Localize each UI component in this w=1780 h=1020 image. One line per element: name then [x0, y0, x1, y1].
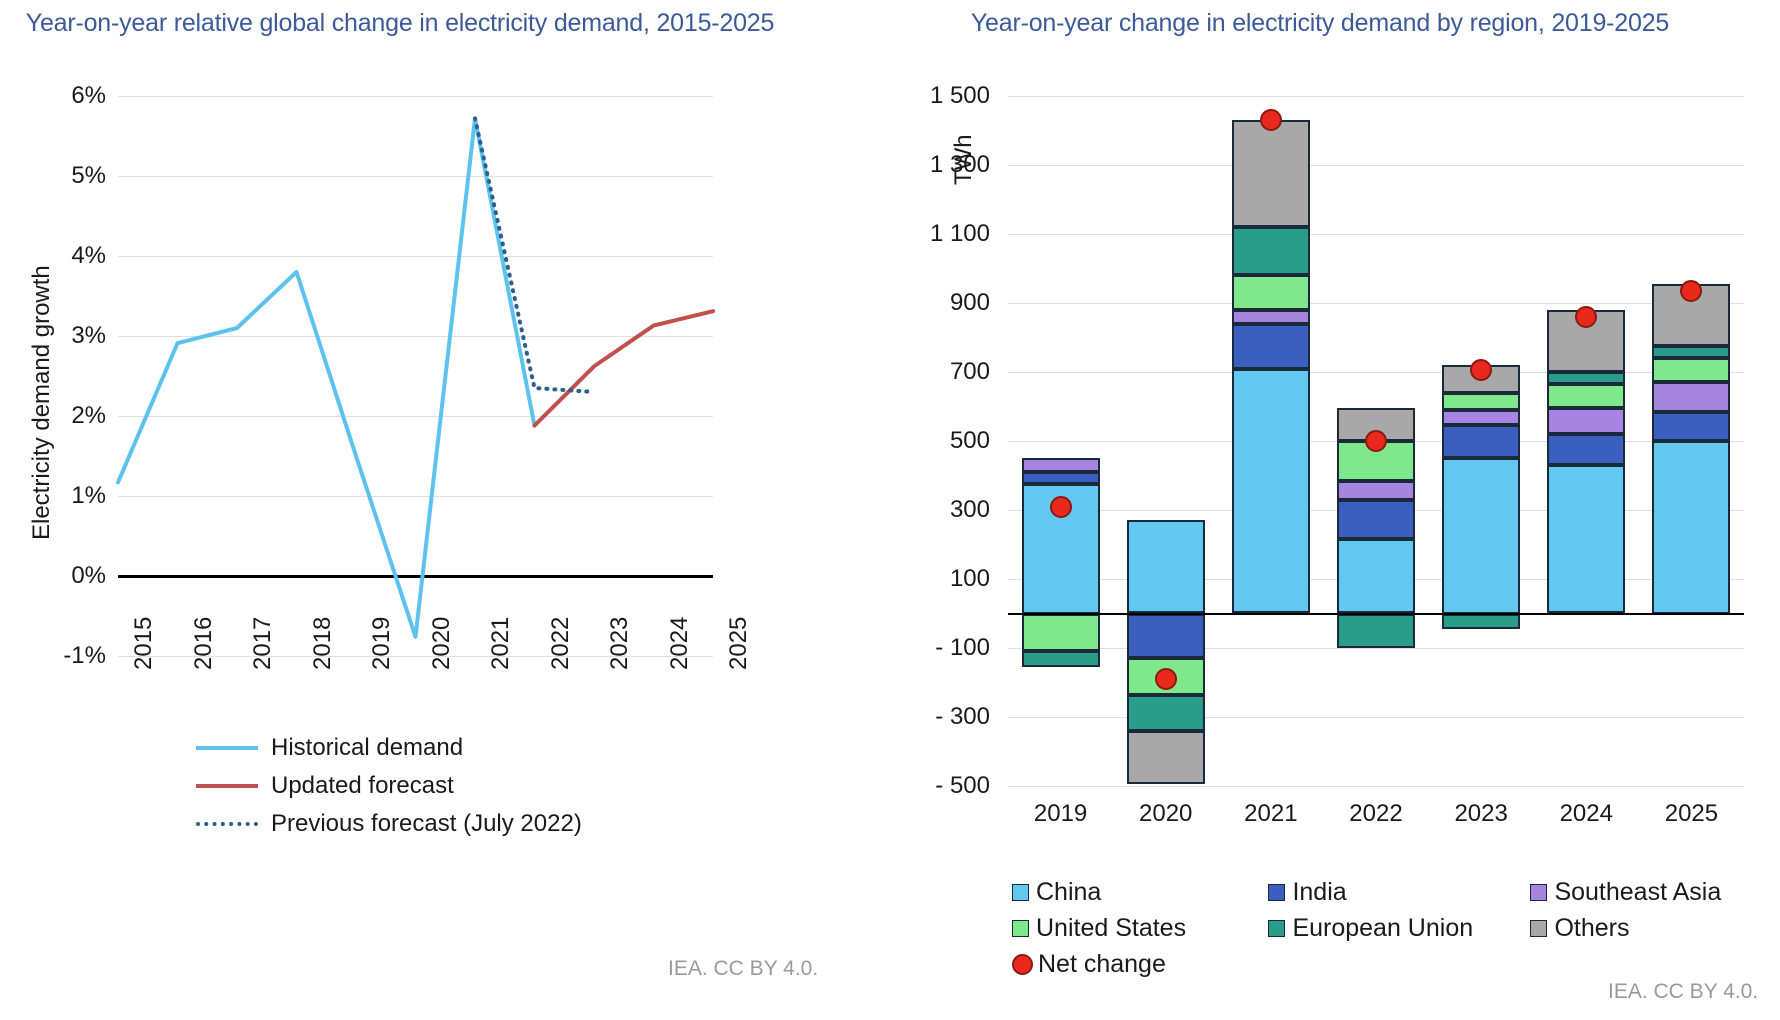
left-credit: IEA. CC BY 4.0. — [668, 957, 818, 981]
right-zero-line — [1008, 613, 1744, 616]
right-y-tick-label: - 500 — [898, 772, 990, 800]
right-y-tick-label: 700 — [898, 358, 990, 386]
left-chart-title: Year-on-year relative global change in e… — [0, 8, 800, 39]
bar-group[interactable] — [1232, 96, 1310, 786]
right-y-tick-label: 900 — [898, 289, 990, 317]
right-chart-title: Year-on-year change in electricity deman… — [880, 8, 1760, 39]
net-change-legend-dot-icon — [1012, 954, 1033, 975]
right-y-tick-label: 1 100 — [898, 220, 990, 248]
right-legend-item[interactable]: Others — [1530, 910, 1772, 946]
right-legend-item[interactable]: United States — [1012, 910, 1268, 946]
bar-segment[interactable] — [1232, 227, 1310, 275]
right-chart-legend: ChinaIndiaSoutheast AsiaUnited StatesEur… — [1012, 874, 1772, 982]
net-change-marker[interactable] — [1050, 496, 1072, 518]
right-legend-label: India — [1292, 878, 1346, 907]
left-legend-swatch-icon — [196, 746, 258, 750]
right-x-tick-label: 2021 — [1218, 800, 1323, 828]
right-legend-swatch-icon — [1530, 884, 1547, 901]
right-plot-area: 1 5001 3001 100900700500300100- 100- 300… — [1008, 96, 1744, 786]
left-y-tick-label: 3% — [40, 322, 106, 350]
bar-segment[interactable] — [1022, 614, 1100, 652]
bar-segment[interactable] — [1547, 372, 1625, 384]
right-legend-swatch-icon — [1012, 920, 1029, 937]
bar-segment[interactable] — [1127, 614, 1205, 659]
right-y-tick-label: - 300 — [898, 703, 990, 731]
right-y-tick-label: - 100 — [898, 634, 990, 662]
left-legend-swatch-icon — [196, 784, 258, 788]
left-chart-panel: Year-on-year relative global change in e… — [0, 0, 860, 1020]
net-change-marker[interactable] — [1155, 668, 1177, 690]
bar-segment[interactable] — [1547, 465, 1625, 613]
right-legend-swatch-icon — [1268, 920, 1285, 937]
left-legend-label: Updated forecast — [271, 772, 454, 800]
bar-segment[interactable] — [1337, 500, 1415, 540]
left-series-line — [535, 311, 714, 425]
right-legend-label: United States — [1036, 914, 1186, 943]
bar-group[interactable] — [1652, 96, 1730, 786]
left-y-tick-label: 1% — [40, 482, 106, 510]
net-change-marker[interactable] — [1260, 109, 1282, 131]
bar-segment[interactable] — [1232, 369, 1310, 614]
bar-segment[interactable] — [1547, 384, 1625, 408]
bar-segment[interactable] — [1022, 651, 1100, 667]
bar-segment[interactable] — [1652, 346, 1730, 358]
right-legend-label: Others — [1554, 914, 1629, 943]
right-y-tick-label: 1 300 — [898, 151, 990, 179]
bar-segment[interactable] — [1652, 441, 1730, 614]
left-legend-swatch-icon — [196, 822, 258, 826]
bar-segment[interactable] — [1022, 472, 1100, 484]
bar-segment[interactable] — [1127, 695, 1205, 731]
left-plot-area: -1%0%1%2%3%4%5%6%20152016201720182019202… — [118, 96, 713, 656]
left-y-tick-label: 2% — [40, 402, 106, 430]
bar-segment[interactable] — [1442, 425, 1520, 458]
left-series-line — [118, 118, 535, 636]
right-y-tick-label: 100 — [898, 565, 990, 593]
right-gridline — [1008, 786, 1744, 787]
right-x-tick-label: 2019 — [1008, 800, 1113, 828]
bar-segment[interactable] — [1442, 614, 1520, 630]
bar-group[interactable] — [1547, 96, 1625, 786]
bar-segment[interactable] — [1442, 458, 1520, 613]
right-y-tick-label: 300 — [898, 496, 990, 524]
figure-pair: Year-on-year relative global change in e… — [0, 0, 1780, 1020]
left-legend-item[interactable]: Updated forecast — [196, 769, 582, 803]
bar-segment[interactable] — [1337, 539, 1415, 613]
left-legend-label: Historical demand — [271, 734, 463, 762]
bar-segment[interactable] — [1022, 458, 1100, 472]
right-legend-swatch-icon — [1268, 884, 1285, 901]
right-x-tick-label: 2020 — [1113, 800, 1218, 828]
bar-segment[interactable] — [1442, 410, 1520, 426]
right-x-tick-label: 2022 — [1323, 800, 1428, 828]
bar-segment[interactable] — [1337, 614, 1415, 649]
right-x-tick-label: 2025 — [1639, 800, 1744, 828]
right-legend-label: Net change — [1038, 950, 1166, 979]
bar-segment[interactable] — [1652, 382, 1730, 411]
right-legend-swatch-icon — [1530, 920, 1547, 937]
bar-segment[interactable] — [1127, 520, 1205, 613]
bar-segment[interactable] — [1232, 324, 1310, 369]
left-chart-legend: Historical demandUpdated forecastPreviou… — [196, 731, 582, 845]
right-y-tick-label: 500 — [898, 427, 990, 455]
net-change-marker[interactable] — [1575, 306, 1597, 328]
left-legend-item[interactable]: Historical demand — [196, 731, 582, 765]
right-x-tick-label: 2024 — [1534, 800, 1639, 828]
right-legend-item[interactable]: China — [1012, 874, 1268, 910]
left-series-line — [475, 118, 594, 392]
net-change-marker[interactable] — [1680, 280, 1702, 302]
left-legend-item[interactable]: Previous forecast (July 2022) — [196, 807, 582, 841]
left-y-tick-label: 0% — [40, 562, 106, 590]
right-legend-swatch-icon — [1012, 884, 1029, 901]
right-legend-item[interactable]: Net change — [1012, 946, 1288, 982]
left-legend-label: Previous forecast (July 2022) — [271, 810, 582, 838]
bar-segment[interactable] — [1232, 120, 1310, 227]
left-y-tick-label: 6% — [40, 82, 106, 110]
left-y-tick-label: 5% — [40, 162, 106, 190]
bar-group[interactable] — [1442, 96, 1520, 786]
bar-segment[interactable] — [1652, 358, 1730, 382]
right-legend-item[interactable]: European Union — [1268, 910, 1530, 946]
left-y-tick-label: -1% — [40, 642, 106, 670]
right-credit: IEA. CC BY 4.0. — [1608, 980, 1758, 1004]
right-legend-label: China — [1036, 878, 1101, 907]
right-legend-item[interactable]: Southeast Asia — [1530, 874, 1772, 910]
right-x-tick-label: 2023 — [1429, 800, 1534, 828]
bar-segment[interactable] — [1652, 412, 1730, 441]
bar-segment[interactable] — [1547, 434, 1625, 465]
right-legend-label: Southeast Asia — [1554, 878, 1721, 907]
bar-segment[interactable] — [1337, 481, 1415, 500]
right-y-tick-label: 1 500 — [898, 82, 990, 110]
right-legend-item[interactable]: India — [1268, 874, 1530, 910]
bar-group[interactable] — [1022, 96, 1100, 786]
bar-segment[interactable] — [1547, 408, 1625, 434]
bar-segment[interactable] — [1232, 310, 1310, 324]
bar-segment[interactable] — [1232, 275, 1310, 310]
bar-segment[interactable] — [1442, 393, 1520, 410]
net-change-marker[interactable] — [1470, 359, 1492, 381]
left-x-tick-label: 2025 — [725, 617, 753, 670]
bar-segment[interactable] — [1127, 731, 1205, 784]
left-y-tick-label: 4% — [40, 242, 106, 270]
right-legend-label: European Union — [1292, 914, 1473, 943]
left-series-layer — [118, 96, 713, 656]
net-change-marker[interactable] — [1365, 430, 1387, 452]
